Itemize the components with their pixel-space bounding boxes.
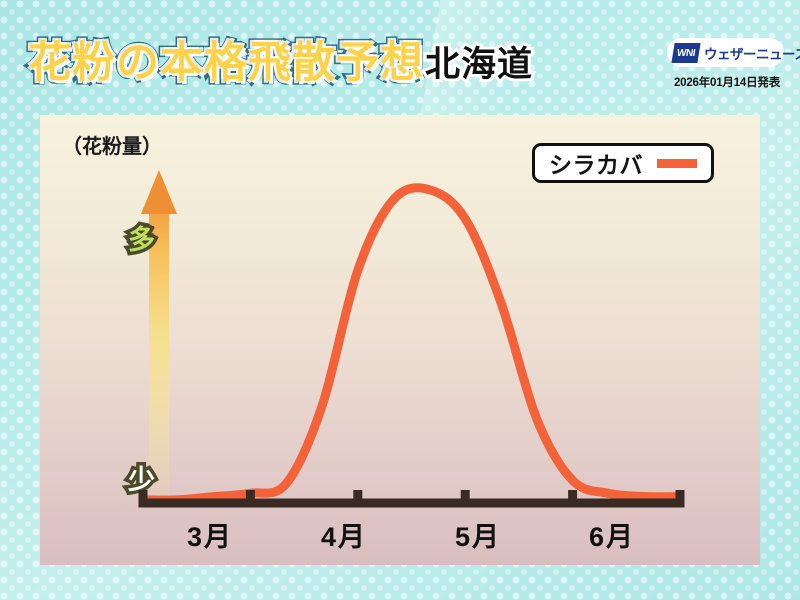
wni-logo-icon: WNI <box>671 43 700 63</box>
logo-label: ウェザーニュース <box>704 43 800 63</box>
pollen-curve-plot <box>40 115 760 565</box>
region-title: 北海道 <box>425 36 533 87</box>
x-tick-label-0: 3月 <box>143 515 277 554</box>
weathernews-logo: WNI ウェザーニュース <box>667 38 784 67</box>
header: 花粉の本格飛散予想 北海道 WNI ウェザーニュース 2026年01月14日発表 <box>0 0 800 115</box>
x-tick-label-1: 4月 <box>277 515 411 554</box>
x-tick-label-3: 6月 <box>545 515 679 554</box>
chart-panel: （花粉量） 多 少 シラカバ 3月 4月 5月 6月 <box>40 115 760 565</box>
x-tick-label-2: 5月 <box>411 515 545 554</box>
publish-date: 2026年01月14日発表 <box>667 74 787 90</box>
series-line-shirakaba <box>143 188 680 500</box>
page-title: 花粉の本格飛散予想 <box>28 28 424 90</box>
